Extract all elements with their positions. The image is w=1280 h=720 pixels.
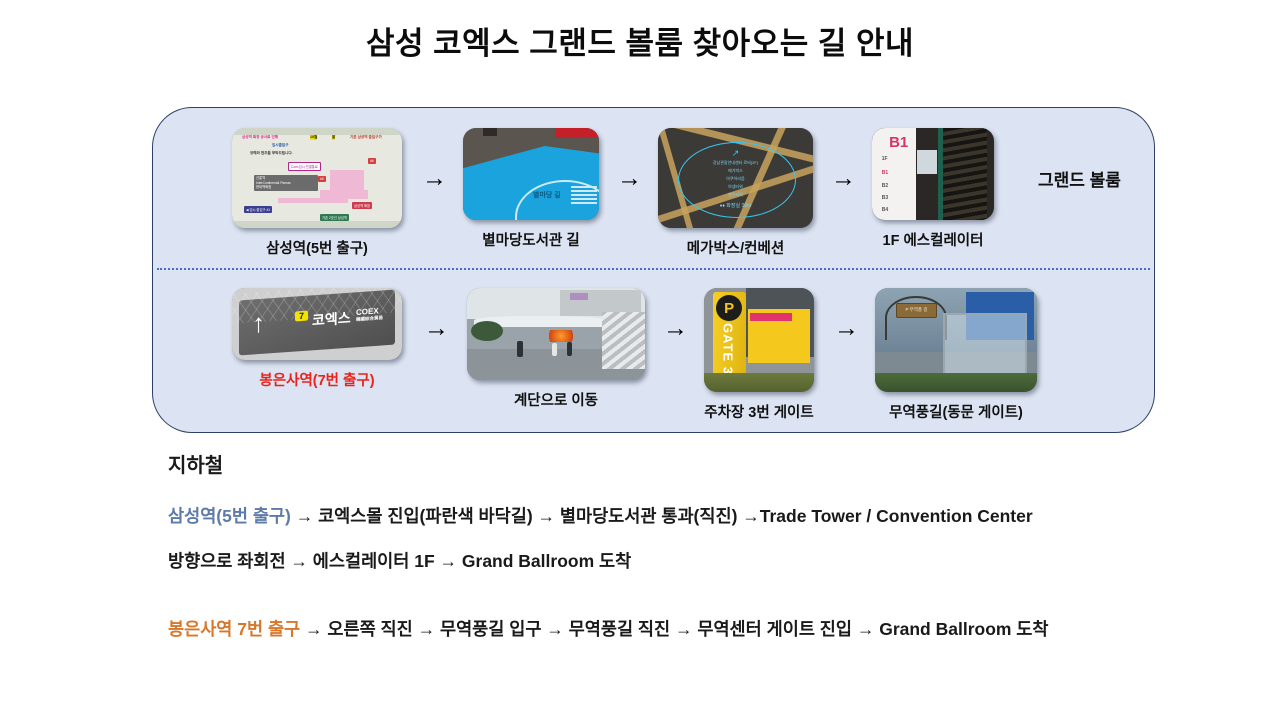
photo-plaza-stairs: [467, 288, 645, 380]
subway-route-highlight: 삼성역(5번 출구): [168, 506, 291, 526]
route-divider: [157, 268, 1150, 270]
caption-samseong-exit5: 삼성역(5번 출구): [266, 237, 368, 258]
up-arrow-icon: ↑: [252, 309, 265, 336]
photo-b1-escalator: B1 1F B1 B2 B3 B4: [872, 128, 994, 220]
caption-stairs: 계단으로 이동: [514, 389, 598, 410]
photo-muyeokpung-gate: P 무역풍 길: [875, 288, 1037, 392]
page-title: 삼성 코엑스 그랜드 볼룸 찾아오는 길 안내: [0, 18, 1280, 63]
photo-parking-gate-3: P GATE 3: [704, 288, 814, 392]
subway-route-rest: → 코엑스몰 진입(파란색 바닥길) → 별마당도서관 통과(직진) →Trad…: [291, 506, 1033, 526]
route-step-stairs[interactable]: 계단으로 이동: [467, 288, 645, 410]
walk-route-rest: → 오른쪽 직진 → 무역풍길 입구 → 무역풍길 직진 → 무역센터 게이트 …: [300, 619, 1048, 639]
route-step-bongeunsa-exit7[interactable]: ↑ 7 코엑스 COEX韓國綜合貿易 봉은사역(7번 출구): [232, 288, 402, 390]
end-label-grand-ballroom: 그랜드 볼룸: [1038, 166, 1121, 191]
subway-route-line-2: 방향으로 좌회전 → 에스컬레이터 1F → Grand Ballroom 도착: [168, 548, 631, 573]
caption-byeolmadang: 별마당도서관 길: [482, 229, 579, 250]
route-step-samseong-exit5[interactable]: 삼성역 확장 공사로 인해 10월 말 기존 삼성역 출입구가 임시출입구 양해…: [232, 128, 402, 258]
route-step-byeolmadang[interactable]: 별마당 길 별마당도서관 길: [463, 128, 599, 250]
route-step-parking-gate-3[interactable]: P GATE 3 주차장 3번 게이트: [704, 288, 814, 422]
route-step-1f-escalator[interactable]: B1 1F B1 B2 B3 B4 1F 에스컬레이터: [872, 128, 994, 250]
photo-blue-floor-path: 별마당 길: [463, 128, 599, 220]
route-step-muyeokpung-gate[interactable]: P 무역풍 길 무역풍길(동문 게이트): [875, 288, 1037, 422]
arrow-icon-6: →: [834, 316, 859, 341]
caption-muyeokpung-gate: 무역풍길(동문 게이트): [889, 401, 1023, 422]
caption-1f-escalator: 1F 에스컬레이터: [883, 229, 984, 250]
escalator-level-label: B1: [889, 134, 908, 151]
caption-bongeunsa-exit7: 봉은사역(7번 출구): [259, 369, 374, 390]
gate-number-label: GATE 3: [721, 323, 736, 375]
walk-route-line-1: 봉은사역 7번 출구 → 오른쪽 직진 → 무역풍길 입구 → 무역풍길 직진 …: [168, 616, 1049, 641]
photo-subway-notice-map: 삼성역 확장 공사로 인해 10월 말 기존 삼성역 출입구가 임시출입구 양해…: [232, 128, 402, 228]
route-row-walk: ↑ 7 코엑스 COEX韓國綜合貿易 봉은사역(7번 출구) →: [232, 288, 1037, 422]
arrow-icon-5: →: [663, 316, 688, 341]
arrow-icon-3: →: [831, 166, 856, 191]
exit-number-badge: 7: [295, 311, 308, 322]
muyeokpung-sign-label: P 무역풍 길: [896, 303, 937, 319]
caption-megabox-convention: 메가박스/컨베션: [687, 237, 784, 258]
photo-floor-direction-sign: ↗ 강남관광안내센터 로비(2F) 메가박스 아쿠아리움 아셈타워 봉은사역 ♦…: [658, 128, 813, 228]
route-row-subway: 삼성역 확장 공사로 인해 10월 말 기존 삼성역 출입구가 임시출입구 양해…: [232, 128, 1121, 258]
caption-parking-gate-3: 주차장 3번 게이트: [704, 401, 814, 422]
walk-route-highlight: 봉은사역 7번 출구: [168, 619, 300, 639]
subway-route-line-1: 삼성역(5번 출구) → 코엑스몰 진입(파란색 바닥길) → 별마당도서관 통…: [168, 503, 1033, 528]
route-step-megabox-convention[interactable]: ↗ 강남관광안내센터 로비(2F) 메가박스 아쿠아리움 아셈타워 봉은사역 ♦…: [658, 128, 813, 258]
photo-coex-direction-sign: ↑ 7 코엑스 COEX韓國綜合貿易: [232, 288, 402, 360]
subway-heading: 지하철: [168, 449, 223, 478]
arrow-icon-4: →: [424, 316, 449, 341]
arrow-icon-1: →: [422, 166, 447, 191]
arrow-icon-2: →: [617, 166, 642, 191]
